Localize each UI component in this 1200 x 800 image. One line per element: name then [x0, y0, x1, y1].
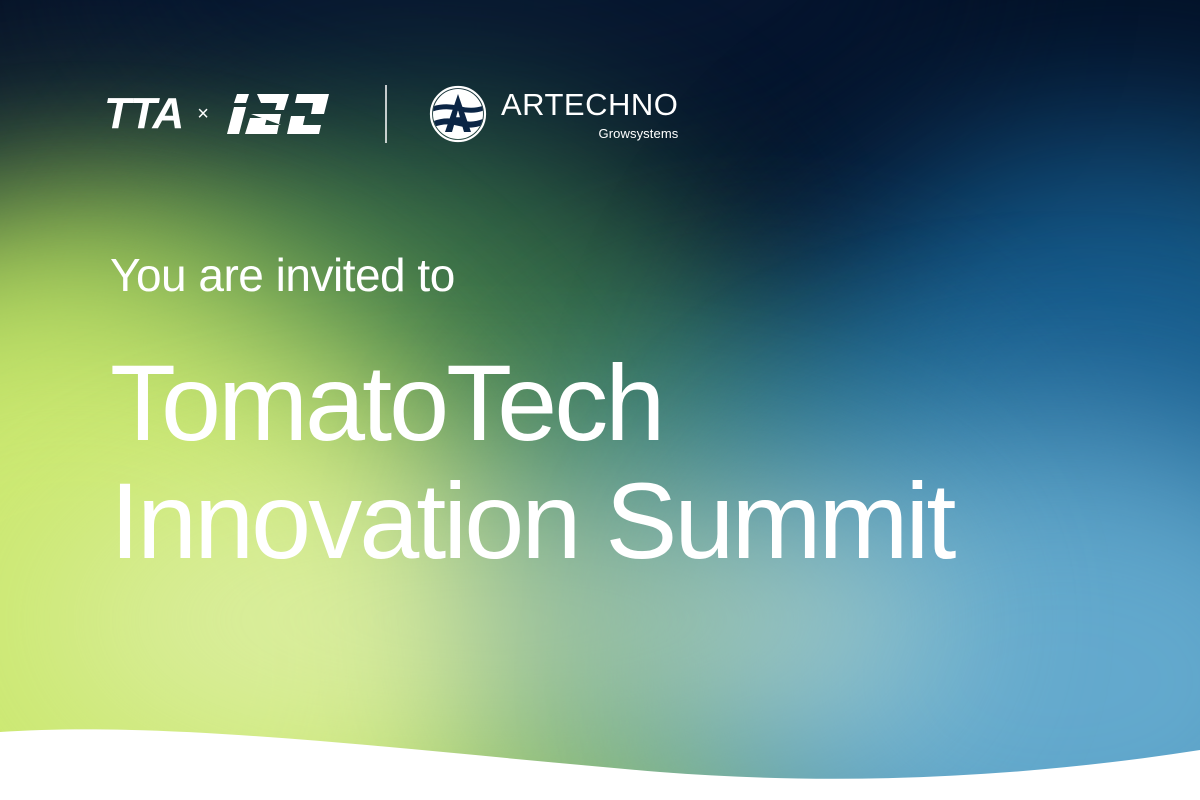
artechno-name: ARTECHNO: [501, 89, 678, 120]
logo-divider: [385, 85, 387, 143]
collaboration-x-icon: ×: [197, 104, 209, 124]
logo-bar: TTA ×: [104, 82, 678, 146]
headline-block: You are invited to TomatoTech Innovation…: [110, 252, 1130, 580]
artechno-tagline: Growsystems: [599, 127, 679, 140]
invitation-banner: TTA ×: [0, 0, 1200, 800]
event-title-line-1: TomatoTech: [110, 344, 1130, 462]
artechno-circle-a-icon: [429, 85, 487, 143]
artechno-lockup: ARTECHNO Growsystems: [429, 85, 678, 143]
tta-wordmark: TTA: [104, 92, 183, 136]
artechno-text-block: ARTECHNO Growsystems: [501, 89, 678, 140]
bottom-wave-decoration: [0, 690, 1200, 800]
invitation-eyebrow: You are invited to: [110, 252, 1130, 298]
tta-iso-lockup: TTA ×: [104, 90, 331, 138]
event-title-line-2: Innovation Summit: [110, 462, 1130, 580]
iso-wordmark-icon: [223, 90, 331, 138]
